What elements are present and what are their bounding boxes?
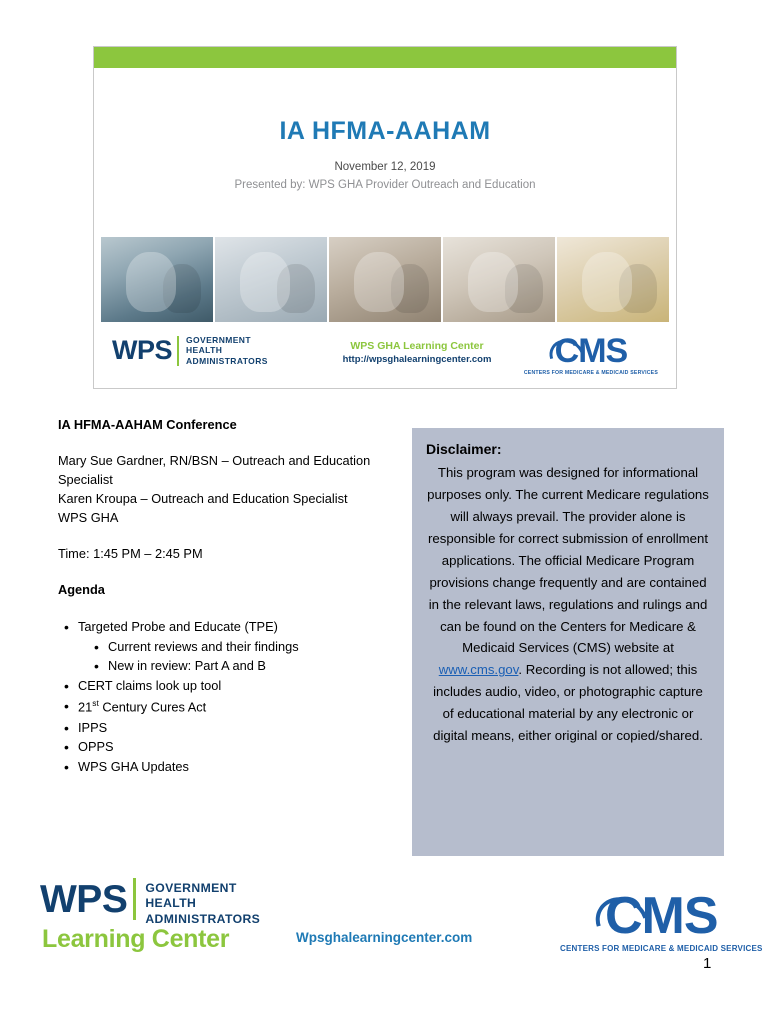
- agenda-item: CERT claims look up tool: [58, 677, 418, 696]
- photo-hospital-corridor: [101, 237, 213, 322]
- wps-subtitle-line1: GOVERNMENT: [186, 335, 268, 345]
- cms-subtitle: CENTERS FOR MEDICARE & MEDICAID SERVICES: [524, 370, 658, 376]
- photo-doctor-patient: [215, 237, 327, 322]
- agenda-cures-post: Century Cures Act: [99, 700, 206, 715]
- disclaimer-text-part1: This program was designed for informatio…: [427, 465, 709, 655]
- footer-wps-wordmark: WPS: [40, 878, 127, 922]
- agenda-item: IPPS: [58, 719, 418, 738]
- slide-presented-by: Presented by: WPS GHA Provider Outreach …: [94, 179, 676, 191]
- wps-subtitle-line2: HEALTH: [186, 345, 268, 355]
- wps-divider: [177, 336, 179, 366]
- footer-learning-center: Learning Center: [42, 925, 229, 954]
- agenda-item: OPPS: [58, 738, 418, 757]
- notes-time: Time: 1:45 PM – 2:45 PM: [58, 545, 418, 564]
- slide-top-green-bar: [94, 47, 676, 68]
- photo-group-seniors: [329, 237, 441, 322]
- agenda-item: WPS GHA Updates: [58, 758, 418, 777]
- footer-cms-logo: CMS CENTERS FOR MEDICARE & MEDICAID SERV…: [560, 890, 763, 953]
- footer-wps-subtitle: GOVERNMENT HEALTH ADMINISTRATORS: [145, 878, 260, 927]
- agenda-heading: Agenda: [58, 581, 418, 600]
- notes-organization: WPS GHA: [58, 509, 418, 528]
- footer-wps-divider: [133, 878, 136, 920]
- footer-url[interactable]: Wpsghalearningcenter.com: [296, 930, 472, 945]
- learning-center-url-block: WPS GHA Learning Center http://wpsghalea…: [322, 340, 512, 365]
- agenda-item: Targeted Probe and Educate (TPE): [58, 618, 418, 637]
- slide-title: IA HFMA-AAHAM: [94, 117, 676, 146]
- slide-date: November 12, 2019: [94, 161, 676, 173]
- photo-strip: [101, 237, 669, 322]
- disclaimer-box: Disclaimer: This program was designed fo…: [412, 428, 724, 856]
- photo-senior-woman: [443, 237, 555, 322]
- disclaimer-body: This program was designed for informatio…: [426, 462, 710, 747]
- agenda-list: Targeted Probe and Educate (TPE) Current…: [58, 618, 418, 778]
- wps-logo: WPS GOVERNMENT HEALTH ADMINISTRATORS: [112, 335, 268, 366]
- cms-logo: CMS CENTERS FOR MEDICARE & MEDICAID SERV…: [524, 334, 658, 376]
- footer-cms-subtitle: CENTERS FOR MEDICARE & MEDICAID SERVICES: [560, 944, 763, 953]
- agenda-item: Current reviews and their findings: [58, 638, 418, 657]
- wps-subtitle: GOVERNMENT HEALTH ADMINISTRATORS: [186, 335, 268, 366]
- wps-wordmark: WPS: [112, 335, 172, 366]
- photo-senior-thumbs-up: [557, 237, 669, 322]
- agenda-cures-pre: 21: [78, 700, 92, 715]
- disclaimer-title: Disclaimer:: [426, 438, 710, 461]
- agenda-item: New in review: Part A and B: [58, 657, 418, 676]
- notes-column: IA HFMA-AAHAM Conference Mary Sue Gardne…: [58, 416, 418, 777]
- notes-presenter-2: Karen Kroupa – Outreach and Education Sp…: [58, 490, 418, 509]
- agenda-item-cures-act: 21st Century Cures Act: [58, 697, 418, 717]
- learning-center-url: http://wpsghalearningcenter.com: [322, 354, 512, 365]
- title-slide: IA HFMA-AAHAM November 12, 2019 Presente…: [93, 46, 677, 389]
- footer-wps-subtitle-line1: GOVERNMENT: [145, 881, 260, 896]
- agenda-cures-sup: st: [92, 698, 99, 708]
- notes-presenter-1: Mary Sue Gardner, RN/BSN – Outreach and …: [58, 452, 418, 490]
- learning-center-name: WPS GHA Learning Center: [322, 340, 512, 352]
- footer-wps-subtitle-line2: HEALTH: [145, 896, 260, 911]
- wps-subtitle-line3: ADMINISTRATORS: [186, 356, 268, 366]
- page-number: 1: [703, 955, 711, 972]
- notes-heading: IA HFMA-AAHAM Conference: [58, 416, 418, 435]
- footer-wps-logo: WPS GOVERNMENT HEALTH ADMINISTRATORS: [40, 878, 260, 927]
- cms-gov-link[interactable]: www.cms.gov: [439, 662, 519, 677]
- slide-logo-row: WPS GOVERNMENT HEALTH ADMINISTRATORS WPS…: [94, 331, 676, 385]
